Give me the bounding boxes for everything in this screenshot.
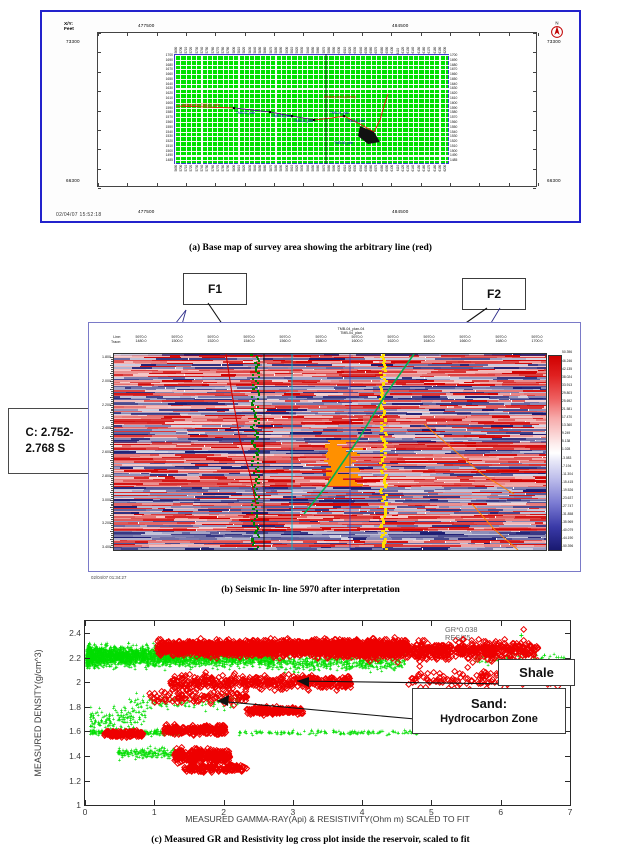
basemap-inline-label: 6110: [397, 165, 401, 171]
basemap-crossline-label: 1510: [450, 145, 457, 149]
basemap-inline-label: 5860: [264, 165, 268, 172]
seismic-line-trace-column: 5970.01620.0: [375, 335, 411, 344]
basemap-inline-label: 6140: [412, 165, 416, 172]
basemap-well-label-1: TMB-02_plan: [236, 111, 255, 115]
seismic-line-tag: Line:: [101, 335, 121, 339]
basemap-well-label-5: TMB-05_plan: [346, 119, 365, 123]
basemap-inline-label: 6010: [344, 165, 348, 172]
basemap-inline-label: 6190: [439, 165, 443, 172]
seismic-colorbar-value: 5.138: [562, 440, 570, 443]
seismic-trace-value: 1640.0: [411, 339, 447, 343]
basemap-crossline-label: 1550: [166, 126, 173, 130]
basemap-inline-label: 6180: [434, 165, 438, 172]
basemap-inline-label: 5980: [328, 165, 332, 172]
basemap-inline-label: 5760: [212, 165, 216, 172]
seismic-trace-value: 1620.0: [375, 339, 411, 343]
basemap-inline-label: 5730: [196, 165, 200, 172]
seismic-time-label: 2.600: [95, 450, 111, 454]
seismic-header: Line: Trace: 5970.01480.05970.01500.0597…: [101, 329, 556, 349]
callout-f2: F2: [462, 278, 526, 310]
basemap-crossline-label: 1510: [166, 145, 173, 149]
seismic-colorbar-value: 29.803: [562, 392, 572, 395]
basemap-inline-label: 6200: [444, 165, 448, 172]
basemap-arbline-label-1: Arbitrary line TMB-02_plan: [182, 103, 220, 107]
seismic-trace-value: 1520.0: [195, 339, 231, 343]
seismic-time-label: 2.000: [95, 379, 111, 383]
seismic-trace-value: 1500.0: [159, 339, 195, 343]
seismic-time-label: 3.400: [95, 545, 111, 549]
basemap-timestamp: 02/04/07 15:52:18: [56, 212, 101, 218]
seismic-colorbar-value: 21.581: [562, 408, 572, 411]
seismic-line-trace-column: 5970.01520.0: [195, 335, 231, 344]
seismic-colorbar-value: -15.415: [562, 481, 573, 484]
basemap-crossline-label: 1690: [166, 59, 173, 63]
basemap-crossline-label: 1690: [450, 59, 457, 63]
seismic-colorbar-value: -50.396: [562, 545, 573, 548]
basemap-ytick-left-bottom: 66300: [66, 178, 80, 183]
basemap-inline-label: 6170: [428, 165, 432, 172]
seismic-header-title: TMB-04_plan-04 TMB-04_plan: [291, 327, 411, 335]
basemap-inline-label: 5870: [270, 165, 274, 172]
basemap-inline-label: 5830: [249, 165, 253, 172]
seismic-colorbar-value: 25.692: [562, 400, 572, 403]
seismic-line-trace-column: 5970.01480.0: [123, 335, 159, 344]
basemap-crossline-label: 1485: [166, 159, 173, 163]
seismic-colorbar-value: 13.360: [562, 424, 572, 427]
basemap-inline-label: 6050: [365, 165, 369, 172]
seismic-line-trace-column: 5970.01680.0: [483, 335, 519, 344]
seismic-time-label: 2.200: [95, 403, 111, 407]
seismic-trace-value: 1700.0: [519, 339, 555, 343]
seismic-colorbar-value: -31.858: [562, 513, 573, 516]
basemap-inline-label: 5810: [238, 165, 242, 172]
basemap-crossline-label: 1485: [450, 159, 457, 163]
seismic-colorbar-value: -7.194: [562, 465, 571, 468]
basemap-inline-numbers-top: 5690570057105720573057405750576057705780…: [174, 42, 449, 54]
basemap-inline-label: 6070: [375, 165, 379, 172]
basemap-inline-label: 5840: [254, 165, 258, 172]
basemap-well-label-3: TMB-01_plan: [294, 119, 313, 123]
basemap-inline-label: 6150: [418, 165, 422, 172]
basemap-units-feet: Feet: [64, 27, 74, 32]
seismic-colorbar-value: 38.024: [562, 376, 572, 379]
basemap-ytick-right-bottom: 66300: [547, 178, 561, 183]
basemap-inline-label: 6080: [381, 165, 385, 172]
seismic-colorbar: [548, 355, 562, 551]
seismic-colorbar-value: -23.637: [562, 497, 573, 500]
seismic-time-axis: 1.8002.0002.2002.4002.6002.8003.0003.200…: [95, 353, 113, 551]
seismic-colorbar-value: -3.083: [562, 457, 571, 460]
compass-north-icon: N: [547, 20, 567, 40]
seismic-trace-value: 1600.0: [339, 339, 375, 343]
seismic-time-label: 2.400: [95, 426, 111, 430]
basemap-crossline-label: 1650: [166, 78, 173, 82]
seismic-colorbar-value: -35.969: [562, 521, 573, 524]
basemap-inline-label: 6000: [338, 165, 342, 172]
seismic-trace-value: 1480.0: [123, 339, 159, 343]
seismic-time-label: 2.800: [95, 474, 111, 478]
seismic-line-trace-column: 5970.01580.0: [303, 335, 339, 344]
seismic-timestamp: 02/04/07 01:34:27: [91, 575, 126, 580]
seismic-line-trace-column: 5970.01660.0: [447, 335, 483, 344]
basemap-crossline-label: 1600: [166, 102, 173, 106]
basemap-inline-label: 6100: [391, 165, 395, 172]
basemap-inline-label: 5700: [180, 165, 184, 172]
basemap-inline-label: 5970: [323, 165, 327, 172]
seismic-well-label: TMB-04: [262, 487, 274, 491]
callout-f1: F1: [183, 273, 247, 305]
seismic-time-label: 3.200: [95, 521, 111, 525]
basemap-inline-label: 5690: [175, 165, 179, 172]
seismic-colorbar-value: 42.135: [562, 368, 572, 371]
seismic-display-frame: TMB-04: [113, 353, 547, 551]
base-map-panel: X/Y: Feet 477500 484500 477500 484500 73…: [40, 10, 581, 223]
seismic-line-trace-column: 5970.01500.0: [159, 335, 195, 344]
basemap-inline-label: 5750: [206, 165, 210, 172]
basemap-crossline-label: 1560: [450, 121, 457, 125]
basemap-ytick-left-top: 73300: [66, 39, 80, 44]
seismic-colorbar-value: 33.913: [562, 384, 572, 387]
seismic-time-label: 3.000: [95, 498, 111, 502]
basemap-inline-label: 5740: [201, 165, 205, 172]
basemap-well-label-6: TMB-06_plan: [334, 141, 353, 145]
basemap-crossline-numbers-left: 1700169016801670166016501640163016201610…: [158, 54, 173, 164]
basemap-arbitrary-line-overlay: Arbitrary line TMB-02_plan Arbitrary lin…: [174, 54, 449, 164]
seismic-colorbar-labels: 50.39646.24642.13538.02433.91329.80325.6…: [562, 353, 578, 551]
seismic-line-trace-column: 5970.01700.0: [519, 335, 555, 344]
seismic-header-title-2: TMB-04_plan: [291, 331, 411, 335]
basemap-xtick-bottom-2: 484500: [392, 209, 409, 214]
basemap-inline-label: 5720: [190, 165, 194, 172]
seismic-line-trace-column: 5970.01540.0: [231, 335, 267, 344]
basemap-well-label-2: TMB-03_plan: [272, 114, 291, 118]
seismic-trace-tag: Trace:: [101, 340, 121, 344]
seismic-section-panel: Line: Trace: 5970.01480.05970.01500.0597…: [88, 322, 581, 572]
caption-a: (a) Base map of survey area showing the …: [0, 243, 621, 253]
basemap-inline-label: 5890: [280, 165, 284, 172]
seismic-time-label: 1.800: [95, 355, 111, 359]
seismic-colorbar-value: -11.304: [562, 473, 573, 476]
seismic-colorbar-value: 50.396: [562, 351, 572, 354]
crossplot-y-axis-title: MEASURED DENSITY(g/cm^3): [33, 649, 43, 776]
basemap-inline-label: 6040: [360, 165, 364, 172]
seismic-trace-value: 1560.0: [267, 339, 303, 343]
basemap-inline-label: 6120: [402, 165, 406, 172]
seismic-colorbar-value: 17.470: [562, 416, 572, 419]
basemap-crossline-label: 1560: [166, 121, 173, 125]
seismic-colorbar-value: 46.246: [562, 360, 572, 363]
basemap-crossline-label: 1650: [450, 78, 457, 82]
seismic-trace-value: 1580.0: [303, 339, 339, 343]
basemap-inline-label: 5800: [233, 165, 237, 172]
seismic-line-trace-column: 5970.01640.0: [411, 335, 447, 344]
basemap-crossline-label: 1550: [450, 126, 457, 130]
seismic-colorbar-value: 1.028: [562, 448, 570, 451]
seismic-colorbar-value: -27.747: [562, 505, 573, 508]
basemap-xtick-top-1: 477500: [138, 23, 155, 28]
seismic-trace-value: 1540.0: [231, 339, 267, 343]
seismic-colorbar-value: -40.079: [562, 529, 573, 532]
basemap-inline-label: 5940: [307, 165, 311, 172]
basemap-crossline-label: 1600: [450, 102, 457, 106]
crossplot-panel: MEASURED DENSITY(g/cm^3) +++++++++++++++…: [0, 608, 621, 823]
basemap-inline-numbers-bottom: 5690570057105720573057405750576057705780…: [174, 165, 449, 177]
seismic-trace-value: 1680.0: [483, 339, 519, 343]
seismic-line-trace-column: 5970.01560.0: [267, 335, 303, 344]
basemap-units-label: X/Y: Feet: [64, 22, 74, 33]
seismic-interpretation-overlay: TMB-04: [114, 354, 546, 550]
basemap-inline-label: 5960: [317, 165, 321, 172]
basemap-arbline-label-2: Arbitrary line A (A'end): [324, 95, 356, 99]
seismic-colorbar-value: -19.526: [562, 489, 573, 492]
basemap-xtick-top-2: 484500: [392, 23, 409, 28]
basemap-inline-label: 6030: [354, 165, 358, 172]
basemap-inline-label: 5770: [217, 165, 221, 172]
basemap-inline-label: 5930: [301, 165, 305, 172]
basemap-xtick-bottom-1: 477500: [138, 209, 155, 214]
basemap-inline-label: 5900: [286, 165, 290, 172]
seismic-line-trace-column: 5970.01600.0: [339, 335, 375, 344]
time-window-line2: 2.768 S: [26, 443, 66, 455]
seismic-line-trace-columns: 5970.01480.05970.01500.05970.01520.05970…: [123, 335, 555, 347]
time-window-callout: C: 2.752- 2.768 S: [8, 408, 91, 474]
basemap-well-label-4: TMB-04_plan: [330, 111, 349, 115]
seismic-trace-value: 1660.0: [447, 339, 483, 343]
seismic-colorbar-value: -44.190: [562, 537, 573, 540]
basemap-inline-label: 5820: [243, 165, 247, 172]
seismic-colorbar-value: 9.249: [562, 432, 570, 435]
basemap-inline-label: 5790: [227, 165, 231, 172]
caption-b: (b) Seismic In- line 5970 after interpre…: [0, 585, 621, 595]
time-window-line1: C: 2.752-: [26, 427, 74, 439]
basemap-inline-label: 5910: [291, 165, 295, 172]
basemap-crossline-numbers-right: 1700169016801670166016501640163016201610…: [450, 54, 465, 164]
